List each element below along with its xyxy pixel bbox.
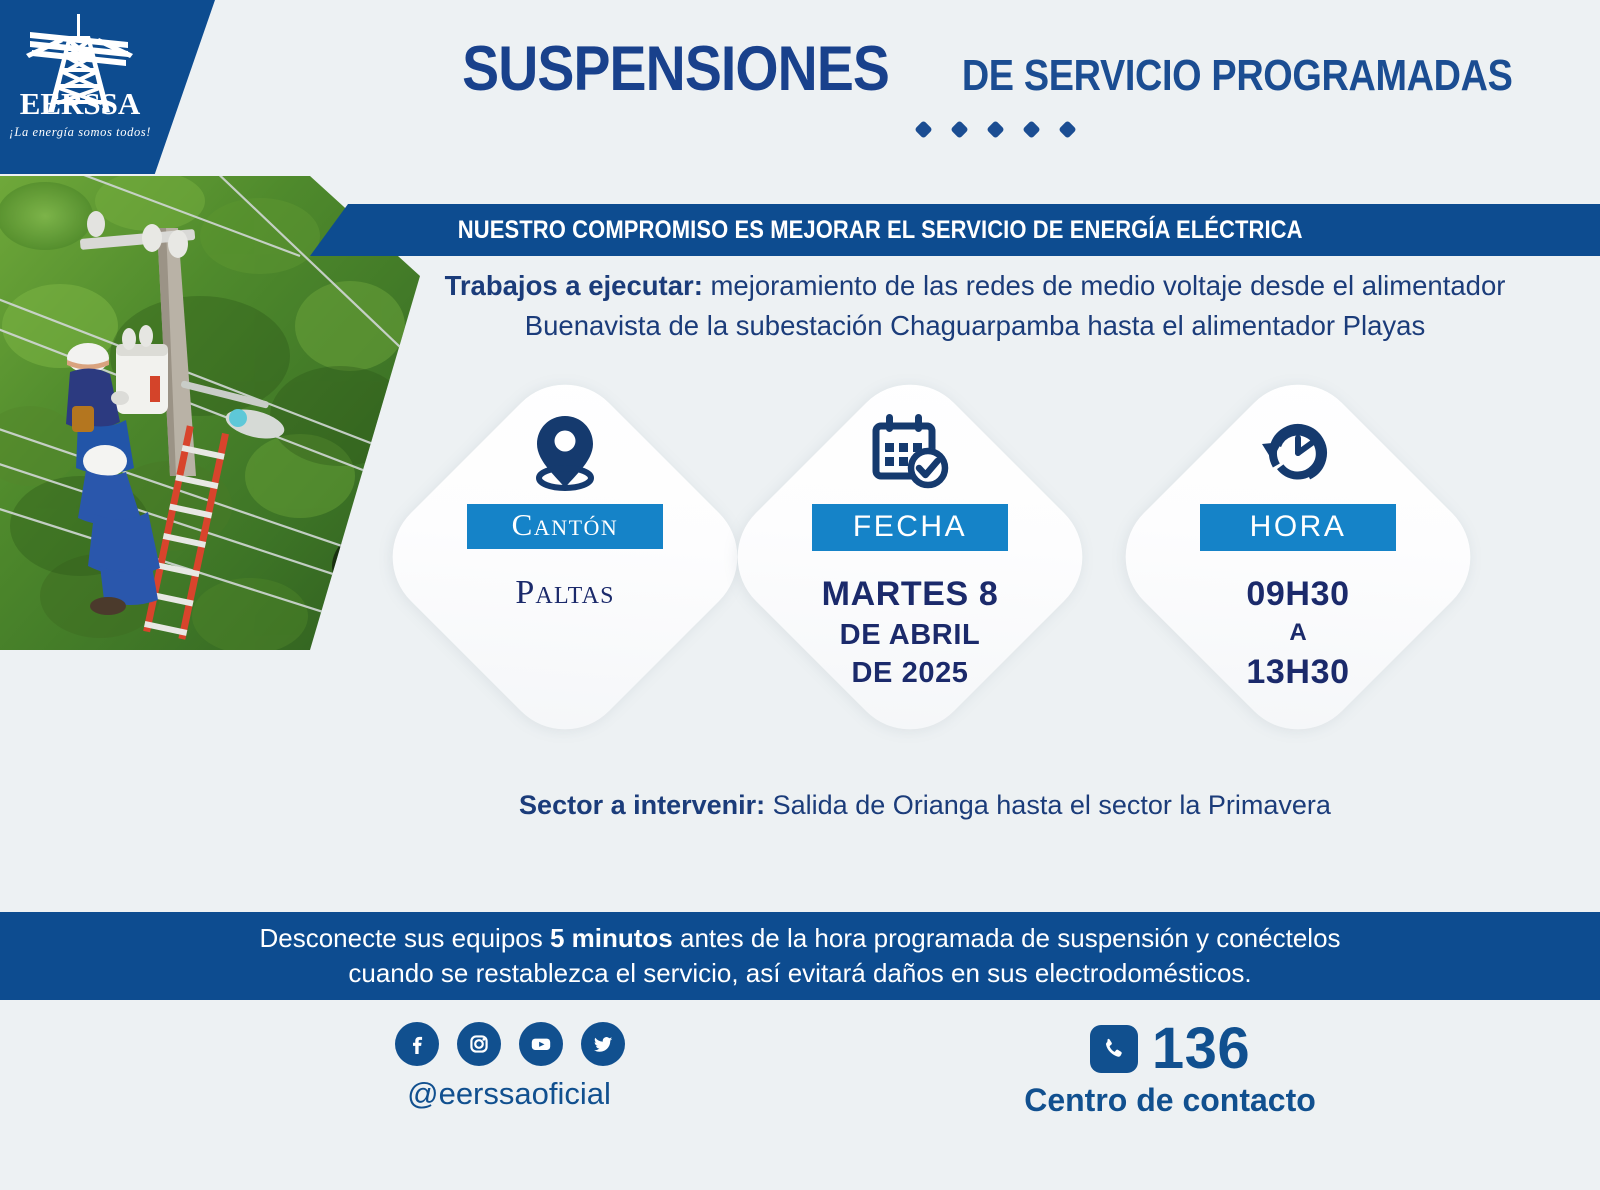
notice-bar: Desconecte sus equipos 5 minutos antes d…	[0, 912, 1600, 1000]
footer: @eerssaoficial 136 Centro de contacto	[0, 1000, 1600, 1190]
location-pin-icon	[527, 410, 603, 496]
infographic-page: EERSSA ¡La energía somos todos! SUSPENSI…	[0, 0, 1600, 1190]
card-hora: HORA 09H30 A 13H30	[1103, 362, 1493, 752]
card-label-hora: HORA	[1200, 504, 1396, 551]
notice-text-a: Desconecte sus equipos	[259, 923, 550, 953]
card-value: 09H30	[1246, 573, 1349, 617]
sector-description: Sector a intervenir: Salida de Orianga h…	[300, 790, 1550, 821]
card-value: MARTES 8	[822, 573, 999, 617]
contact-number: 136	[1152, 1020, 1250, 1078]
card-label-canton: Cantón	[467, 504, 663, 549]
contact-block: 136 Centro de contacto	[1000, 1020, 1340, 1119]
title-main: SUSPENSIONES	[462, 38, 889, 101]
dot-decoration	[1058, 120, 1076, 138]
dot-decoration	[986, 120, 1004, 138]
card-value: DE 2025	[822, 654, 999, 692]
social-icons	[385, 1022, 635, 1066]
card-value: Paltas	[515, 571, 614, 615]
card-values-fecha: MARTES 8 DE ABRIL DE 2025	[822, 573, 999, 693]
card-values-canton: Paltas	[515, 571, 614, 615]
logo-wordmark: EERSSA	[20, 88, 141, 119]
social-handle[interactable]: @eerssaoficial	[383, 1076, 635, 1112]
youtube-icon[interactable]	[519, 1022, 563, 1066]
calendar-check-icon	[868, 410, 952, 496]
logo: EERSSA ¡La energía somos todos!	[0, 0, 160, 174]
title-dots	[430, 123, 1560, 136]
dot-decoration	[1022, 120, 1040, 138]
notice-line-2: cuando se restablezca el servicio, así e…	[348, 956, 1251, 991]
sector-label: Sector a intervenir:	[519, 790, 765, 820]
card-value: A	[1246, 616, 1349, 651]
card-value: DE ABRIL	[822, 616, 999, 654]
card-value: 13H30	[1246, 651, 1349, 695]
card-fecha: FECHA MARTES 8 DE ABRIL DE 2025	[715, 362, 1105, 752]
notice-line-1: Desconecte sus equipos 5 minutos antes d…	[259, 921, 1340, 956]
dot-decoration	[950, 120, 968, 138]
works-description: Trabajos a ejecutar: mejoramiento de las…	[380, 266, 1570, 346]
notice-text-b: antes de la hora programada de suspensió…	[673, 923, 1341, 953]
clock-arrow-icon	[1256, 410, 1340, 496]
twitter-icon[interactable]	[581, 1022, 625, 1066]
notice-text-bold: 5 minutos	[550, 923, 673, 953]
sector-value: Salida de Orianga hasta el sector la Pri…	[765, 790, 1331, 820]
logo-tagline: ¡La energía somos todos!	[9, 125, 151, 140]
works-label: Trabajos a ejecutar:	[445, 270, 703, 301]
social-block: @eerssaoficial	[385, 1022, 635, 1112]
instagram-icon[interactable]	[457, 1022, 501, 1066]
contact-label: Centro de contacto	[1000, 1082, 1340, 1119]
facebook-icon[interactable]	[395, 1022, 439, 1066]
title-subtitle: DE SERVICIO PROGRAMADAS	[961, 54, 1512, 98]
dot-decoration	[914, 120, 932, 138]
page-title: SUSPENSIONES DE SERVICIO PROGRAMADAS	[430, 38, 1560, 136]
info-cards: Cantón Paltas	[370, 362, 1560, 762]
logo-panel: EERSSA ¡La energía somos todos!	[0, 0, 215, 174]
card-canton: Cantón Paltas	[370, 362, 760, 752]
commitment-banner-text: NUESTRO COMPROMISO ES MEJORAR EL SERVICI…	[458, 216, 1452, 245]
phone-icon	[1090, 1025, 1138, 1073]
card-values-hora: 09H30 A 13H30	[1246, 573, 1349, 695]
card-label-fecha: FECHA	[812, 504, 1008, 551]
commitment-banner: NUESTRO COMPROMISO ES MEJORAR EL SERVICI…	[310, 204, 1600, 256]
